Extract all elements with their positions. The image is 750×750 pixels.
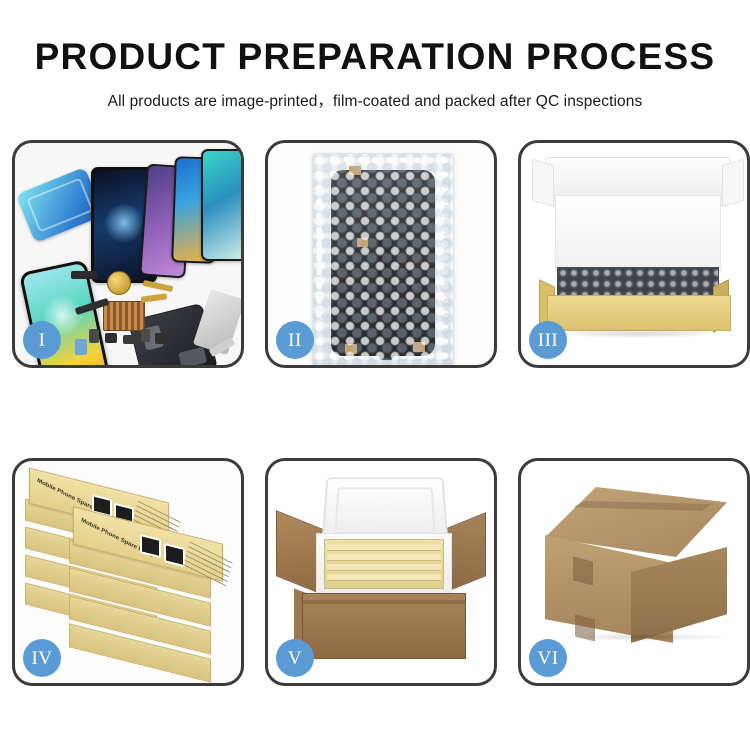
process-steps-grid: I II	[12, 140, 738, 686]
step-panel-3: III	[518, 140, 750, 368]
wrapped-screen	[331, 170, 435, 356]
yellow-box-row-3	[327, 564, 441, 571]
step-panel-6: VI	[518, 458, 750, 686]
step-panel-1: I	[12, 140, 244, 368]
yellow-box-row-2	[327, 554, 441, 561]
carton-front-face	[302, 593, 466, 659]
page-header: PRODUCT PREPARATION PROCESS All products…	[0, 0, 750, 111]
speaker-coil-part	[107, 271, 131, 295]
page-subtitle: All products are image-printed，film-coat…	[0, 89, 750, 111]
carton-tab-upper	[573, 557, 593, 586]
screen-flex-cable	[379, 240, 393, 360]
box-stack: Mobile Phone Spare Parts Mobile Phone Sp…	[25, 479, 235, 669]
carton-fold-line	[303, 600, 465, 604]
tape-strip-1	[349, 166, 361, 175]
box-shadow	[551, 329, 727, 338]
flex-cable-part-3	[141, 293, 168, 303]
connector-chip-part	[103, 301, 145, 331]
small-part-1	[89, 329, 99, 343]
small-part-6	[75, 339, 87, 355]
shipping-carton	[539, 487, 733, 647]
step-badge-6: VI	[529, 639, 567, 677]
small-part-2	[105, 333, 117, 343]
carton-shadow	[559, 633, 731, 641]
yellow-box-row-4	[327, 574, 441, 581]
step-panel-4: Mobile Phone Spare Parts Mobile Phone Sp…	[12, 458, 244, 686]
step-badge-1: I	[23, 321, 61, 359]
step-badge-5: V	[276, 639, 314, 677]
page-title: PRODUCT PREPARATION PROCESS	[0, 38, 750, 75]
yellow-box-row-1	[327, 544, 441, 551]
tape-strip-4	[413, 342, 425, 352]
product-preparation-page: PRODUCT PREPARATION PROCESS All products…	[0, 0, 750, 750]
small-part-5	[155, 333, 166, 344]
step-panel-5: V	[265, 458, 497, 686]
small-part-4	[141, 329, 150, 342]
lcd-screen-teal	[201, 149, 241, 261]
tape-strip-2	[357, 238, 368, 247]
step-badge-3: III	[529, 321, 567, 359]
step-badge-2: II	[276, 321, 314, 359]
mailer-box-front	[547, 295, 731, 331]
packed-yellow-boxes	[324, 539, 444, 589]
foam-sheet	[555, 195, 721, 271]
step-panel-2: II	[265, 140, 497, 368]
tape-strip-3	[345, 344, 357, 354]
step-badge-4: IV	[23, 639, 61, 677]
flex-cable-part-2	[143, 280, 174, 292]
box-screen-image-4	[164, 543, 185, 567]
small-part-3	[123, 335, 137, 344]
bubble-wrap-bag	[312, 153, 454, 365]
flex-cable-part-4	[71, 271, 97, 279]
